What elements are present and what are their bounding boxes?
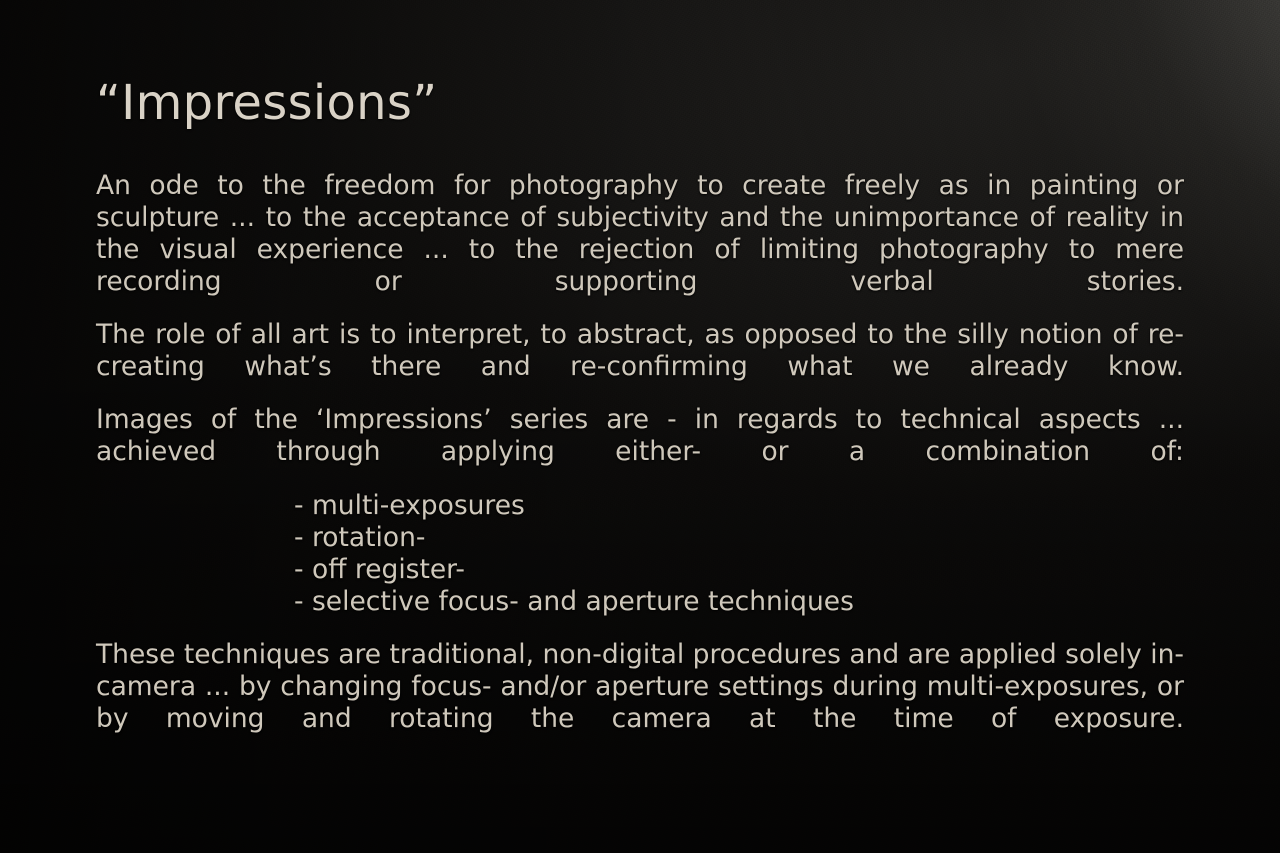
list-item: - rotation- xyxy=(294,522,1184,554)
list-item: - off register- xyxy=(294,554,1184,586)
paragraph-role-of-art: The role of all art is to interpret, to … xyxy=(96,319,1184,415)
slide-title: “Impressions” xyxy=(96,78,437,128)
list-item: - multi-exposures xyxy=(294,490,1184,522)
list-item: - selective focus- and aperture techniqu… xyxy=(294,586,1184,618)
paragraph-impressions-series: Images of the ‘Impressions’ series are -… xyxy=(96,404,1184,500)
technique-list: - multi-exposures - rotation- - off regi… xyxy=(294,490,1184,618)
paragraph-traditional-techniques: These techniques are traditional, non-di… xyxy=(96,639,1184,767)
presentation-slide: “Impressions” An ode to the freedom for … xyxy=(0,0,1280,853)
paragraph-freedom-ode: An ode to the freedom for photography to… xyxy=(96,170,1184,330)
slide-content: “Impressions” An ode to the freedom for … xyxy=(96,0,1184,853)
